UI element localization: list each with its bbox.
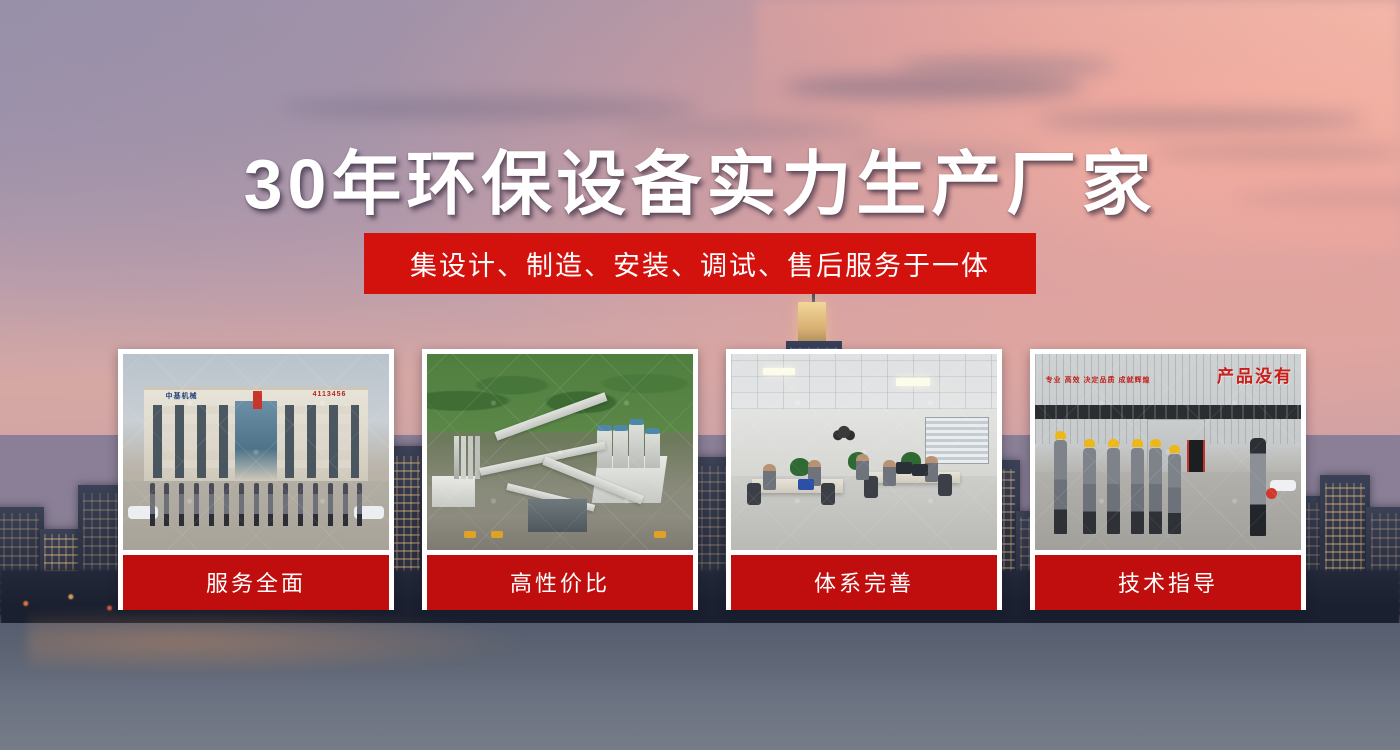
- feature-card[interactable]: 体系完善: [726, 349, 1002, 610]
- factory-worker: [1107, 448, 1120, 534]
- storage-silo: [645, 432, 660, 467]
- office-chair: [821, 483, 835, 505]
- office-worker: [856, 454, 869, 480]
- building-entrance: [235, 401, 278, 481]
- plant-hall: [432, 476, 475, 507]
- wall-decal: [824, 415, 864, 441]
- feature-card[interactable]: 中基机械 4113456 服务全面: [118, 349, 394, 610]
- excavator: [491, 531, 503, 538]
- storage-silo: [629, 423, 644, 468]
- factory-worker: [1083, 448, 1096, 534]
- card-caption: 服务全面: [123, 555, 389, 610]
- excavator: [464, 531, 476, 538]
- flag-icon: [253, 391, 262, 409]
- card-caption: 体系完善: [731, 555, 997, 610]
- cloud-wisp: [280, 96, 700, 120]
- feature-card[interactable]: 产品没有 专业 高效 决定品质 成就辉煌 技术指导: [1030, 349, 1306, 610]
- water-reflection: [28, 608, 532, 676]
- computer-monitor: [912, 464, 928, 476]
- page-title: 30年环保设备实力生产厂家: [0, 128, 1400, 229]
- ceiling-light: [896, 378, 930, 386]
- feature-card-row: 中基机械 4113456 服务全面: [118, 349, 1282, 610]
- factory-side-door: [1187, 440, 1206, 473]
- subtitle-banner: 集设计、制造、安装、调试、售后服务于一体: [364, 233, 1036, 294]
- storage-silo: [613, 429, 628, 468]
- office-worker: [763, 464, 776, 490]
- building-phone-text: 4113456: [313, 391, 347, 398]
- office-worker: [883, 460, 896, 486]
- feature-card[interactable]: 高性价比: [422, 349, 698, 610]
- ceiling-light: [763, 368, 795, 375]
- staff-group: [150, 483, 363, 526]
- excavator: [654, 531, 666, 538]
- office-workspace-photo: [731, 354, 997, 550]
- plant-shed: [528, 499, 587, 532]
- cloud-wisp: [896, 57, 1116, 75]
- company-headquarters-photo: 中基机械 4113456: [123, 354, 389, 550]
- factory-sign-large: 产品没有: [1217, 362, 1293, 387]
- factory-sign-small: 专业 高效 决定品质 成就辉煌: [1046, 376, 1151, 386]
- card-caption: 技术指导: [1035, 555, 1301, 610]
- forest-backdrop: [427, 354, 693, 432]
- production-plant-aerial-photo: [427, 354, 693, 550]
- office-ceiling: [731, 354, 997, 409]
- potted-plant: [790, 458, 810, 476]
- computer-monitor: [896, 462, 912, 474]
- exhaust-stacks: [454, 436, 459, 479]
- laptop: [798, 479, 814, 490]
- promo-banner: 30年环保设备实力生产厂家 集设计、制造、安装、调试、售后服务于一体 中基机械 …: [0, 0, 1400, 750]
- card-caption: 高性价比: [427, 555, 693, 610]
- facade-window-strip: [1035, 405, 1301, 419]
- factory-worker: [1149, 448, 1162, 534]
- office-chair: [747, 483, 761, 505]
- factory-worker: [1131, 448, 1144, 534]
- building-sign-text: 中基机械: [166, 391, 198, 401]
- cloud-wisp: [784, 74, 1084, 100]
- office-chair: [938, 474, 952, 496]
- conveyor-belt: [479, 441, 606, 475]
- worker-training-photo: 产品没有 专业 高效 决定品质 成就辉煌: [1035, 354, 1301, 550]
- factory-worker: [1168, 454, 1181, 534]
- supervisor: [1250, 438, 1266, 536]
- factory-worker: [1054, 440, 1067, 534]
